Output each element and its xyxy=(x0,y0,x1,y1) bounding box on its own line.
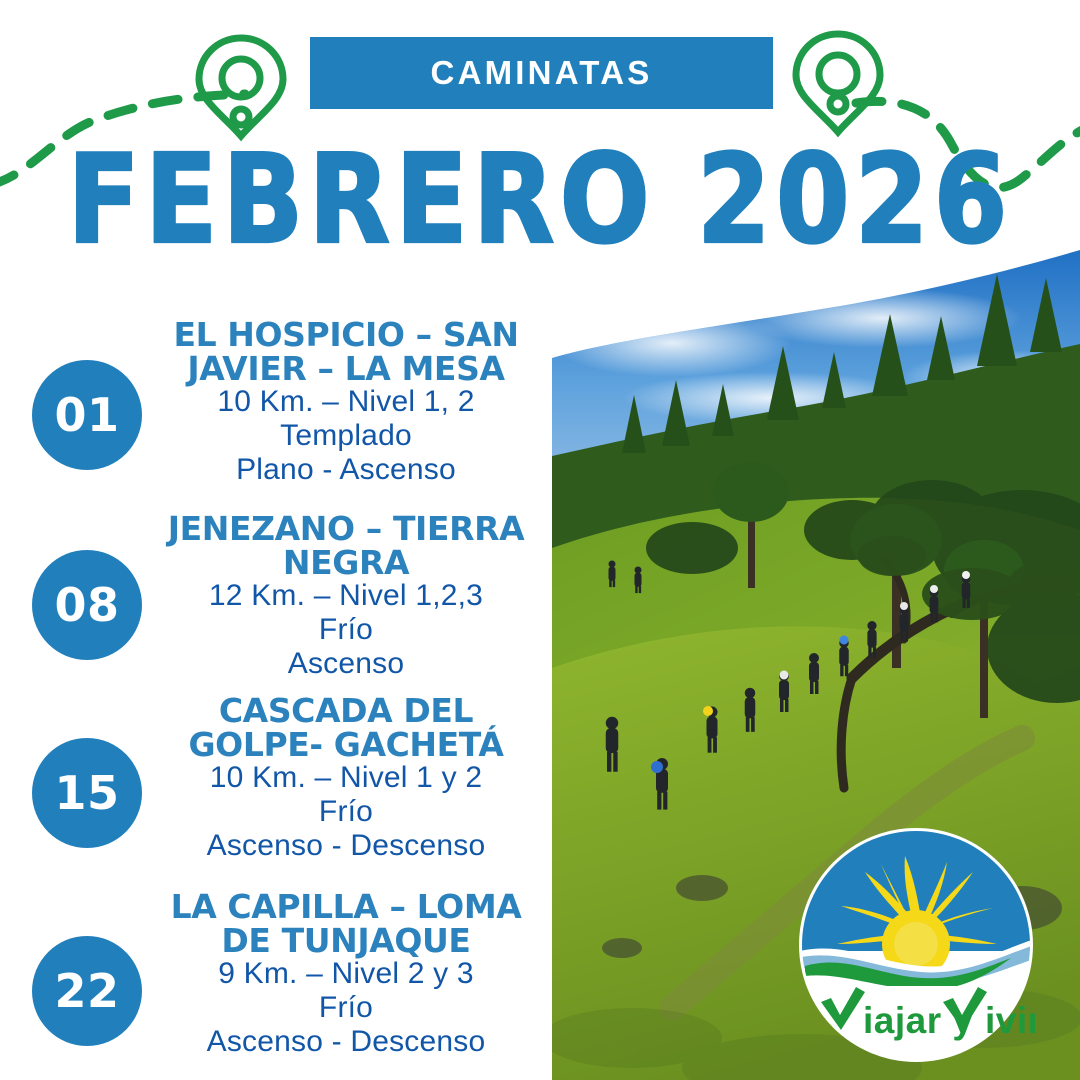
walk-title: JENEZANO – TIERRA NEGRA xyxy=(160,512,532,579)
walk-distance: 12 Km. – Nivel 1,2,3 xyxy=(160,579,532,613)
map-pin-icon xyxy=(796,34,880,132)
list-item[interactable]: 08 JENEZANO – TIERRA NEGRA 12 Km. – Nive… xyxy=(0,506,552,694)
walk-climate: Frío xyxy=(160,613,532,647)
date-badge: 08 xyxy=(32,550,142,660)
schedule-list: 01 EL HOSPICIO – SAN JAVIER – LA MESA 10… xyxy=(0,318,552,1070)
banner-label: CAMINATAS xyxy=(431,54,653,92)
date-badge: 15 xyxy=(32,738,142,848)
walk-distance: 10 Km. – Nivel 1 y 2 xyxy=(160,761,532,795)
walk-distance: 10 Km. – Nivel 1, 2 xyxy=(160,385,532,419)
brand-logo[interactable]: iajar y ivir xyxy=(797,826,1035,1064)
walk-distance: 9 Km. – Nivel 2 y 3 xyxy=(160,957,532,991)
list-item-text: EL HOSPICIO – SAN JAVIER – LA MESA 10 Km… xyxy=(160,318,532,486)
list-item-text: CASCADA DEL GOLPE- GACHETÁ 10 Km. – Nive… xyxy=(160,694,532,862)
map-pin-icon xyxy=(199,38,283,136)
caminatas-banner: CAMINATAS xyxy=(310,37,773,109)
date-badge-number: 22 xyxy=(54,964,119,1018)
date-badge-number: 15 xyxy=(54,766,119,820)
walk-terrain: Plano - Ascenso xyxy=(160,453,532,487)
walk-climate: Templado xyxy=(160,419,532,453)
list-item-text: JENEZANO – TIERRA NEGRA 12 Km. – Nivel 1… xyxy=(160,512,532,680)
date-badge: 01 xyxy=(32,360,142,470)
walk-title: EL HOSPICIO – SAN JAVIER – LA MESA xyxy=(160,318,532,385)
list-item[interactable]: 01 EL HOSPICIO – SAN JAVIER – LA MESA 10… xyxy=(0,318,552,506)
logo-graphic: iajar y ivir xyxy=(797,826,1035,1064)
walk-title: CASCADA DEL GOLPE- GACHETÁ xyxy=(160,694,532,761)
poster-root: CAMINATAS FEBRERO 2026 xyxy=(0,0,1080,1080)
walk-climate: Frío xyxy=(160,991,532,1025)
walk-climate: Frío xyxy=(160,795,532,829)
date-badge-number: 08 xyxy=(54,578,119,632)
walk-title: LA CAPILLA – LOMA DE TUNJAQUE xyxy=(160,890,532,957)
walk-terrain: Ascenso xyxy=(160,647,532,681)
list-item-text: LA CAPILLA – LOMA DE TUNJAQUE 9 Km. – Ni… xyxy=(160,890,532,1058)
date-badge: 22 xyxy=(32,936,142,1046)
date-badge-number: 01 xyxy=(54,388,119,442)
list-item[interactable]: 22 LA CAPILLA – LOMA DE TUNJAQUE 9 Km. –… xyxy=(0,882,552,1070)
logo-text-two: ivir xyxy=(985,1000,1035,1041)
page-title: FEBRERO 2026 xyxy=(0,138,1080,261)
list-item[interactable]: 15 CASCADA DEL GOLPE- GACHETÁ 10 Km. – N… xyxy=(0,694,552,882)
walk-terrain: Ascenso - Descenso xyxy=(160,829,532,863)
walk-terrain: Ascenso - Descenso xyxy=(160,1025,532,1059)
